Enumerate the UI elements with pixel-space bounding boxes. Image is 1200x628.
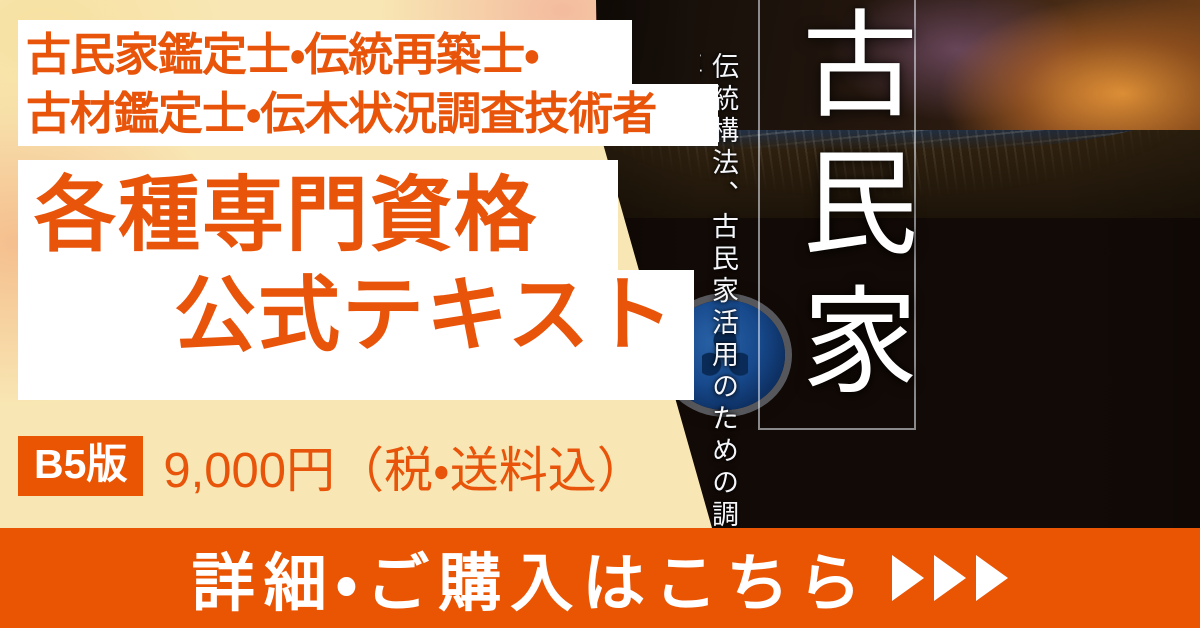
qualifications-line-2: 古材鑑定士・伝木状況調査技術者 [26, 84, 722, 143]
triangle-right-icon [892, 555, 924, 601]
qualifications-text: 古民家鑑定士・伝統再築士・ 古材鑑定士・伝木状況調査技術者 [18, 22, 722, 146]
main-title: 各種専門資格 公式テキスト [18, 166, 696, 398]
cover-title: 古民家 [768, 4, 908, 418]
price-row: B5版 9,000円（税・送料込） [18, 432, 646, 500]
size-badge: B5版 [18, 436, 143, 495]
qualifications-line-1: 古民家鑑定士・伝統再築士・ [26, 25, 722, 84]
price-text: 9,000円（税・送料込） [163, 431, 645, 502]
cta-arrows [892, 555, 1008, 601]
cta-label: 詳細・ご購入はこちら [192, 533, 870, 624]
promo-banner: 古民家 伝統構法、古民家活用のための調査と再生の 古民家鑑定士・伝統再築士・ 古… [0, 0, 1200, 628]
main-title-line-2: 公式テキスト [18, 266, 696, 366]
triangle-right-icon [934, 555, 966, 601]
cta-button[interactable]: 詳細・ご購入はこちら [0, 528, 1200, 628]
triangle-right-icon [976, 555, 1008, 601]
main-title-line-1: 各種専門資格 [18, 166, 696, 266]
